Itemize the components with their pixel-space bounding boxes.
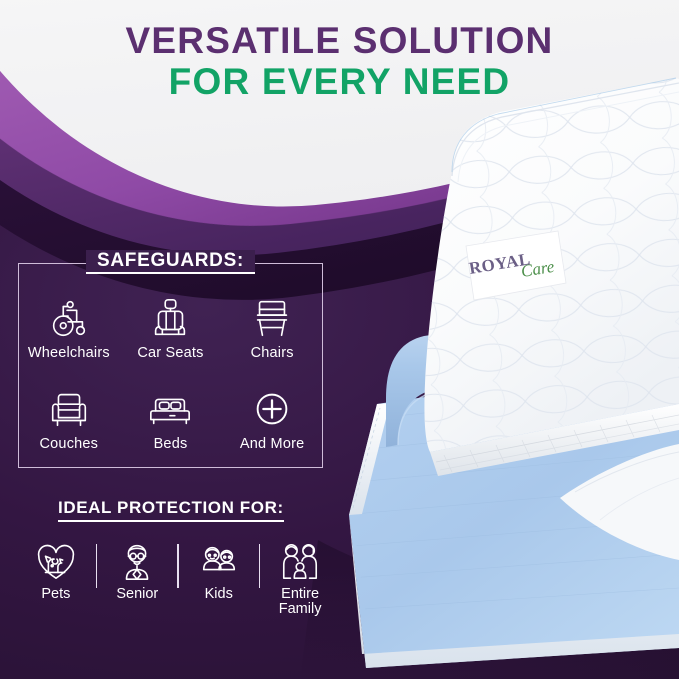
chair-icon <box>249 295 295 341</box>
ideal-protection-title: IDEAL PROTECTION FOR: <box>18 498 323 522</box>
safeguard-label: Couches <box>40 436 99 452</box>
audience-item-kids[interactable]: Kids <box>179 540 259 602</box>
audience-label: Senior <box>116 587 158 602</box>
plus-circle-icon <box>249 386 295 432</box>
promo-graphic: VERSATILE SOLUTION FOR EVERY NEED <box>0 0 679 679</box>
safeguard-item-beds[interactable]: Beds <box>120 373 222 464</box>
car-seat-icon <box>147 295 193 341</box>
bed-icon <box>147 386 193 432</box>
safeguards-title-text: SAFEGUARDS: <box>86 250 255 274</box>
audience-row: Pets Senior <box>16 540 340 645</box>
family-icon <box>279 540 321 582</box>
safeguard-label: Chairs <box>251 345 294 361</box>
audience-label: Pets <box>41 587 70 602</box>
wheelchair-icon <box>46 295 92 341</box>
safeguard-item-and-more[interactable]: And More <box>221 373 323 464</box>
headline-line-1: VERSATILE SOLUTION <box>0 22 679 60</box>
safeguard-item-chairs[interactable]: Chairs <box>221 282 323 373</box>
audience-label: Kids <box>205 587 233 602</box>
pets-icon <box>35 540 77 582</box>
safeguard-label: Wheelchairs <box>28 345 110 361</box>
audience-label: EntireFamily <box>279 587 322 618</box>
safeguards-grid: Wheelchairs Car Seats <box>18 282 323 464</box>
headline-line-2: FOR EVERY NEED <box>0 63 679 101</box>
ideal-protection-title-text: IDEAL PROTECTION FOR: <box>58 498 284 522</box>
audience-item-senior[interactable]: Senior <box>97 540 177 602</box>
safeguard-label: Beds <box>154 436 188 452</box>
headline: VERSATILE SOLUTION FOR EVERY NEED <box>0 22 679 102</box>
safeguard-item-car-seats[interactable]: Car Seats <box>120 282 222 373</box>
audience-item-pets[interactable]: Pets <box>16 540 96 602</box>
safeguard-item-wheelchairs[interactable]: Wheelchairs <box>18 282 120 373</box>
senior-icon <box>116 540 158 582</box>
safeguards-title: SAFEGUARDS: <box>0 250 341 274</box>
kids-icon <box>198 540 240 582</box>
safeguard-item-couches[interactable]: Couches <box>18 373 120 464</box>
audience-item-entire-family[interactable]: EntireFamily <box>260 540 340 618</box>
couch-icon <box>46 386 92 432</box>
safeguard-label: Car Seats <box>137 345 203 361</box>
safeguard-label: And More <box>240 436 304 452</box>
